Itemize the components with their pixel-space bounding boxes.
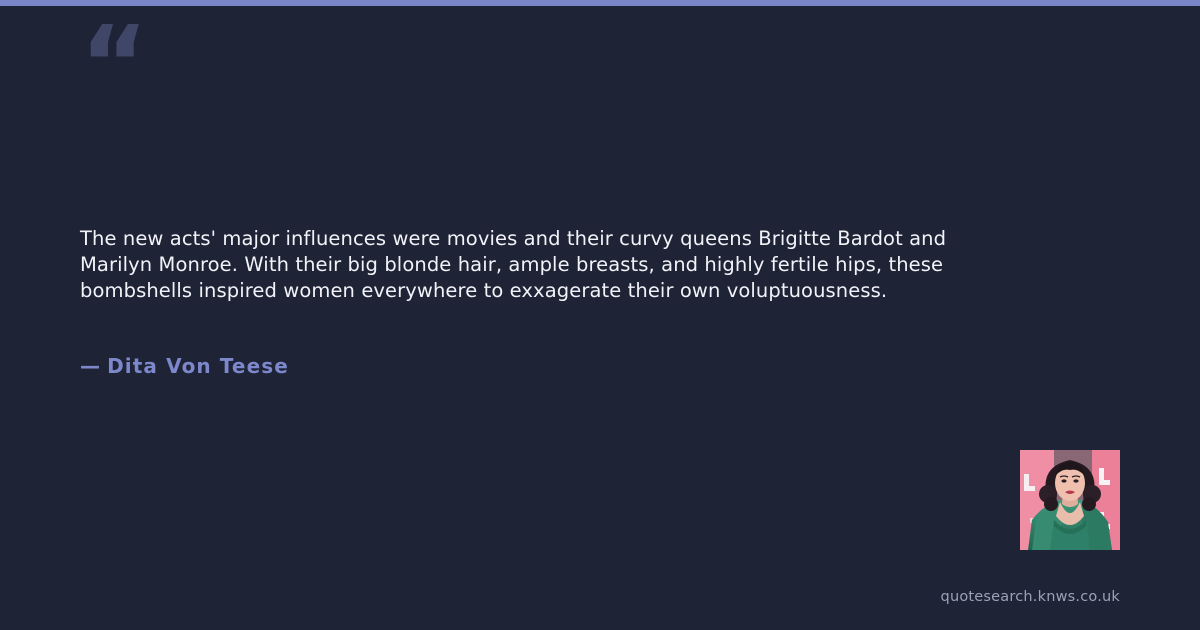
source-url: quotesearch.knws.co.uk	[941, 589, 1120, 605]
quote-card: “ The new acts' major influences were mo…	[0, 0, 1200, 630]
author-portrait-illustration	[1020, 450, 1120, 550]
quote-text: The new acts' major influences were movi…	[80, 226, 1010, 304]
open-quote-icon: “	[80, 12, 140, 92]
quote-attribution: —Dita Von Teese	[80, 354, 289, 378]
attribution-dash: —	[80, 354, 101, 378]
author-thumbnail[interactable]	[1020, 450, 1120, 550]
top-accent-bar	[0, 0, 1200, 6]
attribution-author: Dita Von Teese	[107, 354, 289, 378]
